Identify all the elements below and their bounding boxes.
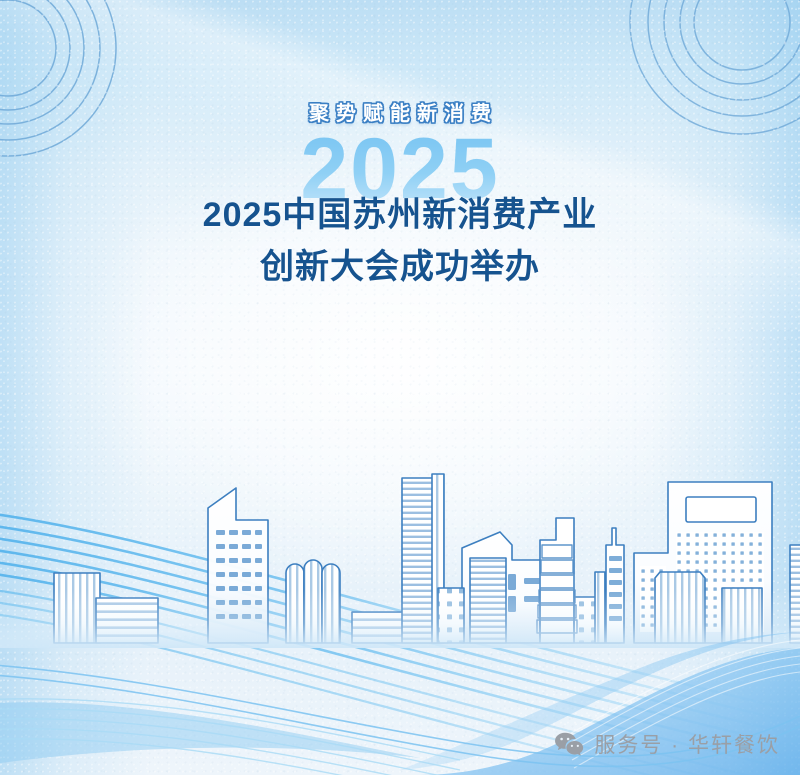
footer-account[interactable]: 服务号 · 华轩餐饮 (554, 729, 780, 759)
title-lines: 2025中国苏州新消费产业 创新大会成功举办 (0, 190, 800, 293)
footer-account-name: 服务号 · 华轩餐饮 (594, 729, 780, 759)
poster-canvas: 聚势赋能新消费 2025 2025中国苏州新消费产业 创新大会成功举办 服务号 … (0, 0, 800, 775)
headline-block: 聚势赋能新消费 2025 2025中国苏州新消费产业 创新大会成功举办 (0, 104, 800, 293)
wechat-icon (554, 731, 584, 757)
page-title-line-2: 创新大会成功举办 (0, 242, 800, 294)
page-title-line-1: 2025中国苏州新消费产业 (0, 190, 800, 242)
